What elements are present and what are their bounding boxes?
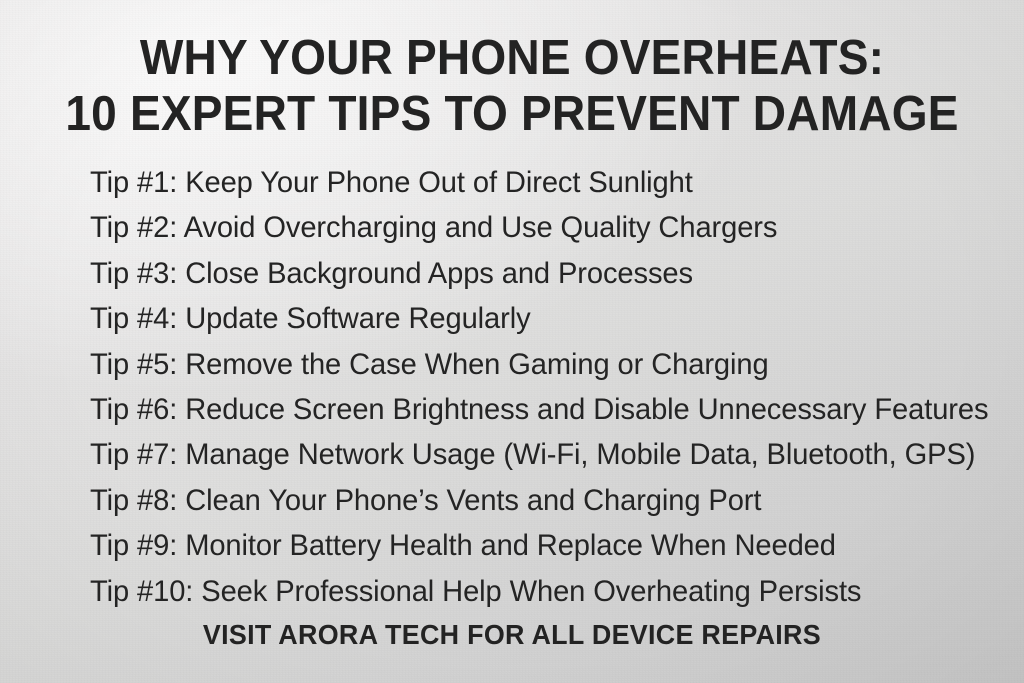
- list-item: Tip #2: Avoid Overcharging and Use Quali…: [90, 205, 986, 250]
- list-item: Tip #10: Seek Professional Help When Ove…: [90, 569, 986, 614]
- list-item: Tip #8: Clean Your Phone’s Vents and Cha…: [90, 478, 986, 523]
- list-item: Tip #9: Monitor Battery Health and Repla…: [90, 523, 986, 568]
- title-line-2: 10 EXPERT TIPS TO PREVENT DAMAGE: [31, 86, 994, 142]
- list-item: Tip #6: Reduce Screen Brightness and Dis…: [90, 387, 986, 432]
- poster-canvas: WHY YOUR PHONE OVERHEATS: 10 EXPERT TIPS…: [0, 0, 1024, 683]
- title-line-1: WHY YOUR PHONE OVERHEATS:: [31, 30, 994, 86]
- list-item: Tip #4: Update Software Regularly: [90, 296, 986, 341]
- list-item: Tip #1: Keep Your Phone Out of Direct Su…: [90, 160, 986, 205]
- list-item: Tip #7: Manage Network Usage (Wi-Fi, Mob…: [90, 432, 986, 477]
- list-item: Tip #5: Remove the Case When Gaming or C…: [90, 342, 986, 387]
- list-item: Tip #3: Close Background Apps and Proces…: [90, 251, 986, 296]
- footer-callout: VISIT ARORA TECH FOR ALL DEVICE REPAIRS: [0, 618, 1024, 652]
- tips-list: Tip #1: Keep Your Phone Out of Direct Su…: [90, 160, 1014, 614]
- page-title: WHY YOUR PHONE OVERHEATS: 10 EXPERT TIPS…: [0, 30, 1024, 142]
- footer-text: VISIT ARORA TECH FOR ALL DEVICE REPAIRS: [203, 618, 821, 652]
